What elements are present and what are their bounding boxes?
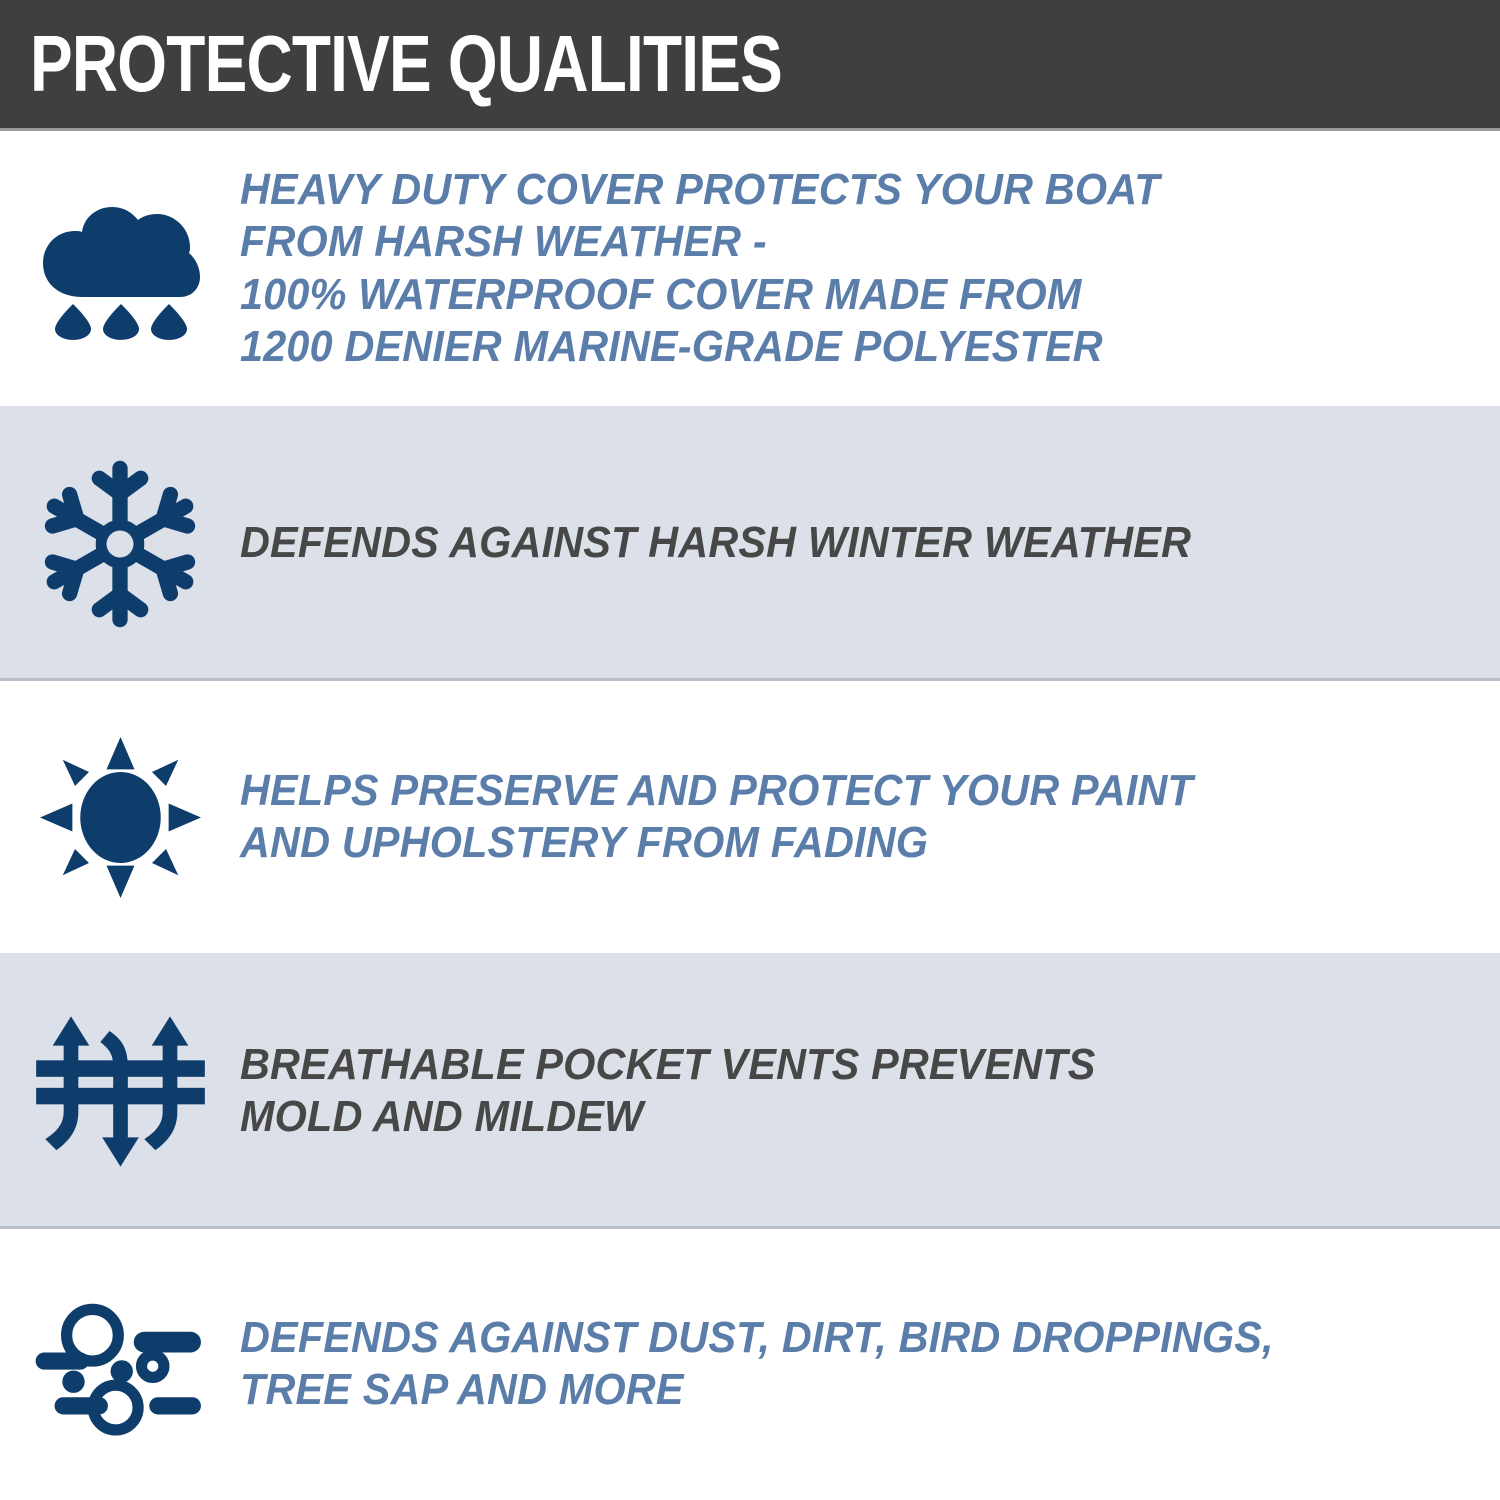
text-cell: DEFENDS AGAINST HARSH WINTER WEATHER (240, 517, 1500, 569)
feature-row-winter: DEFENDS AGAINST HARSH WINTER WEATHER (0, 406, 1500, 681)
dust-particles-icon (25, 1287, 215, 1442)
icon-cell (0, 1009, 240, 1174)
feature-row-waterproof: HEAVY DUTY COVER PROTECTS YOUR BOAT FROM… (0, 131, 1500, 406)
icon-cell (0, 189, 240, 349)
feature-row-uv: HELPS PRESERVE AND PROTECT YOUR PAINT AN… (0, 681, 1500, 953)
rain-cloud-icon (35, 189, 205, 349)
header-bar: PROTECTIVE QUALITIES (0, 0, 1500, 131)
sun-icon (33, 730, 208, 905)
page-title: PROTECTIVE QUALITIES (30, 24, 782, 104)
feature-row-dust: DEFENDS AGAINST DUST, DIRT, BIRD DROPPIN… (0, 1229, 1500, 1499)
feature-text: HEAVY DUTY COVER PROTECTS YOUR BOAT FROM… (240, 164, 1387, 373)
text-cell: DEFENDS AGAINST DUST, DIRT, BIRD DROPPIN… (240, 1312, 1500, 1417)
feature-text: HELPS PRESERVE AND PROTECT YOUR PAINT AN… (240, 765, 1387, 870)
text-cell: HEAVY DUTY COVER PROTECTS YOUR BOAT FROM… (240, 164, 1500, 373)
text-cell: HELPS PRESERVE AND PROTECT YOUR PAINT AN… (240, 765, 1500, 870)
text-cell: BREATHABLE POCKET VENTS PREVENTS MOLD AN… (240, 1039, 1500, 1144)
feature-text: BREATHABLE POCKET VENTS PREVENTS MOLD AN… (240, 1039, 1387, 1144)
icon-cell (0, 454, 240, 634)
icon-cell (0, 1287, 240, 1442)
feature-text: DEFENDS AGAINST HARSH WINTER WEATHER (240, 517, 1387, 569)
snowflake-icon (30, 454, 210, 634)
icon-cell (0, 730, 240, 905)
feature-text: DEFENDS AGAINST DUST, DIRT, BIRD DROPPIN… (240, 1312, 1387, 1417)
feature-row-breathable: BREATHABLE POCKET VENTS PREVENTS MOLD AN… (0, 953, 1500, 1229)
air-vent-arrows-icon (28, 1009, 213, 1174)
protective-qualities-infographic: PROTECTIVE QUALITIES HEAVY DUTY COVER PR… (0, 0, 1500, 1500)
